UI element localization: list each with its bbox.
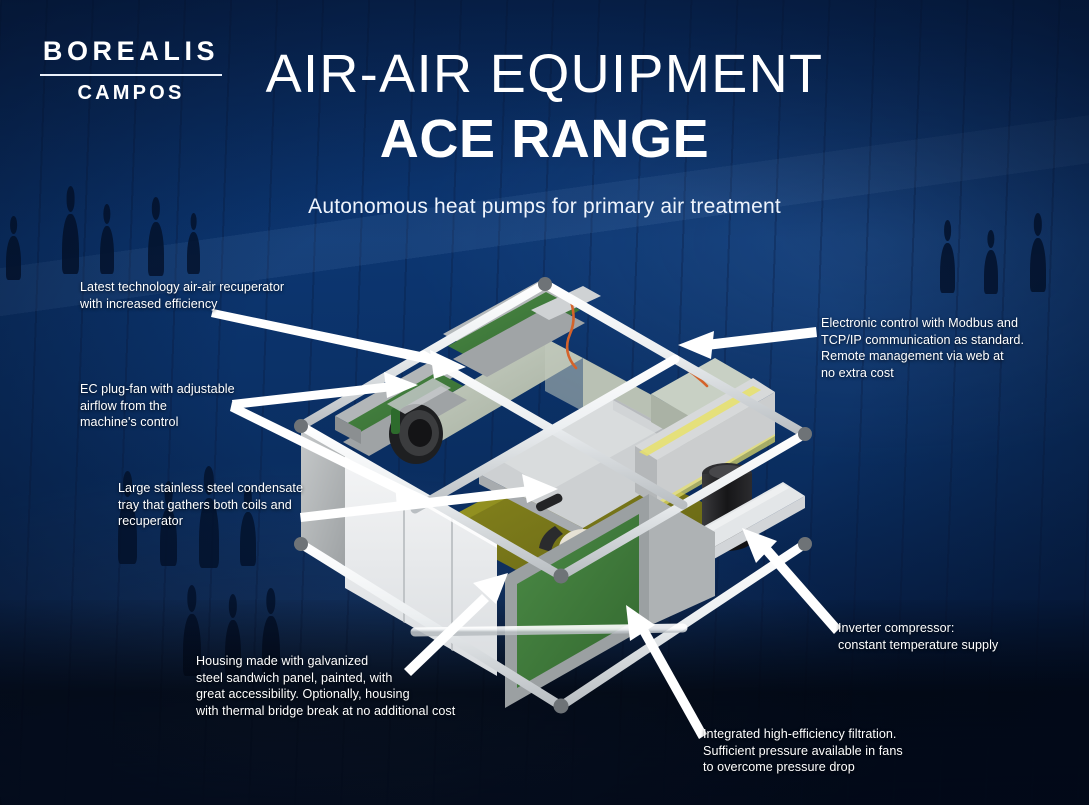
callout-recuperator: Latest technology air-air recuperator wi… xyxy=(80,279,284,312)
callout-plug-fan: EC plug-fan with adjustable airflow from… xyxy=(80,381,235,431)
page-title-secondary: ACE RANGE xyxy=(0,109,1089,169)
callout-filtration: Integrated high-efficiency filtration. S… xyxy=(703,726,903,776)
page-subtitle: Autonomous heat pumps for primary air tr… xyxy=(0,195,1089,219)
page-title-primary: AIR-AIR EQUIPMENT xyxy=(0,46,1089,103)
callout-housing: Housing made with galvanized steel sandw… xyxy=(196,653,455,719)
callout-condensate-tray: Large stainless steel condensate tray th… xyxy=(118,480,303,530)
poster-canvas: BOREALIS CAMPOS AIR-AIR EQUIPMENT ACE RA… xyxy=(0,0,1089,805)
product-render-ahu xyxy=(283,276,843,706)
sandwich-panel-housing xyxy=(345,452,497,676)
callout-electronic-control: Electronic control with Modbus and TCP/I… xyxy=(821,315,1024,381)
callout-inverter-compressor: Inverter compressor: constant temperatur… xyxy=(838,620,998,653)
title-block: AIR-AIR EQUIPMENT ACE RANGE Autonomous h… xyxy=(0,46,1089,219)
